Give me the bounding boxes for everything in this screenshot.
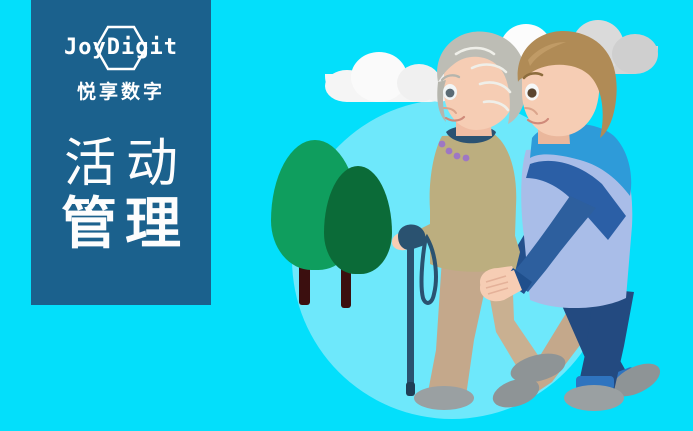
page-title-line-1: 活动: [53, 134, 189, 194]
people-group: [380, 20, 693, 420]
elderly-eye: [446, 89, 455, 98]
poster-canvas: JoyDigit 悦享数字 活动 管理: [0, 0, 693, 431]
elderly-shoe-front: [414, 386, 474, 410]
young-man-eye: [527, 88, 536, 97]
logo-wordmark: JoyDigit: [46, 34, 196, 62]
young-man-shoe-front: [564, 385, 624, 411]
title-panel: JoyDigit 悦享数字 活动 管理: [31, 0, 211, 305]
page-title-line-2: 管理: [53, 194, 189, 256]
walking-cane: [398, 224, 436, 396]
logo-chinese-name: 悦享数字: [77, 77, 165, 104]
logo: JoyDigit: [46, 25, 196, 71]
page-title: 活动 管理: [53, 134, 189, 256]
